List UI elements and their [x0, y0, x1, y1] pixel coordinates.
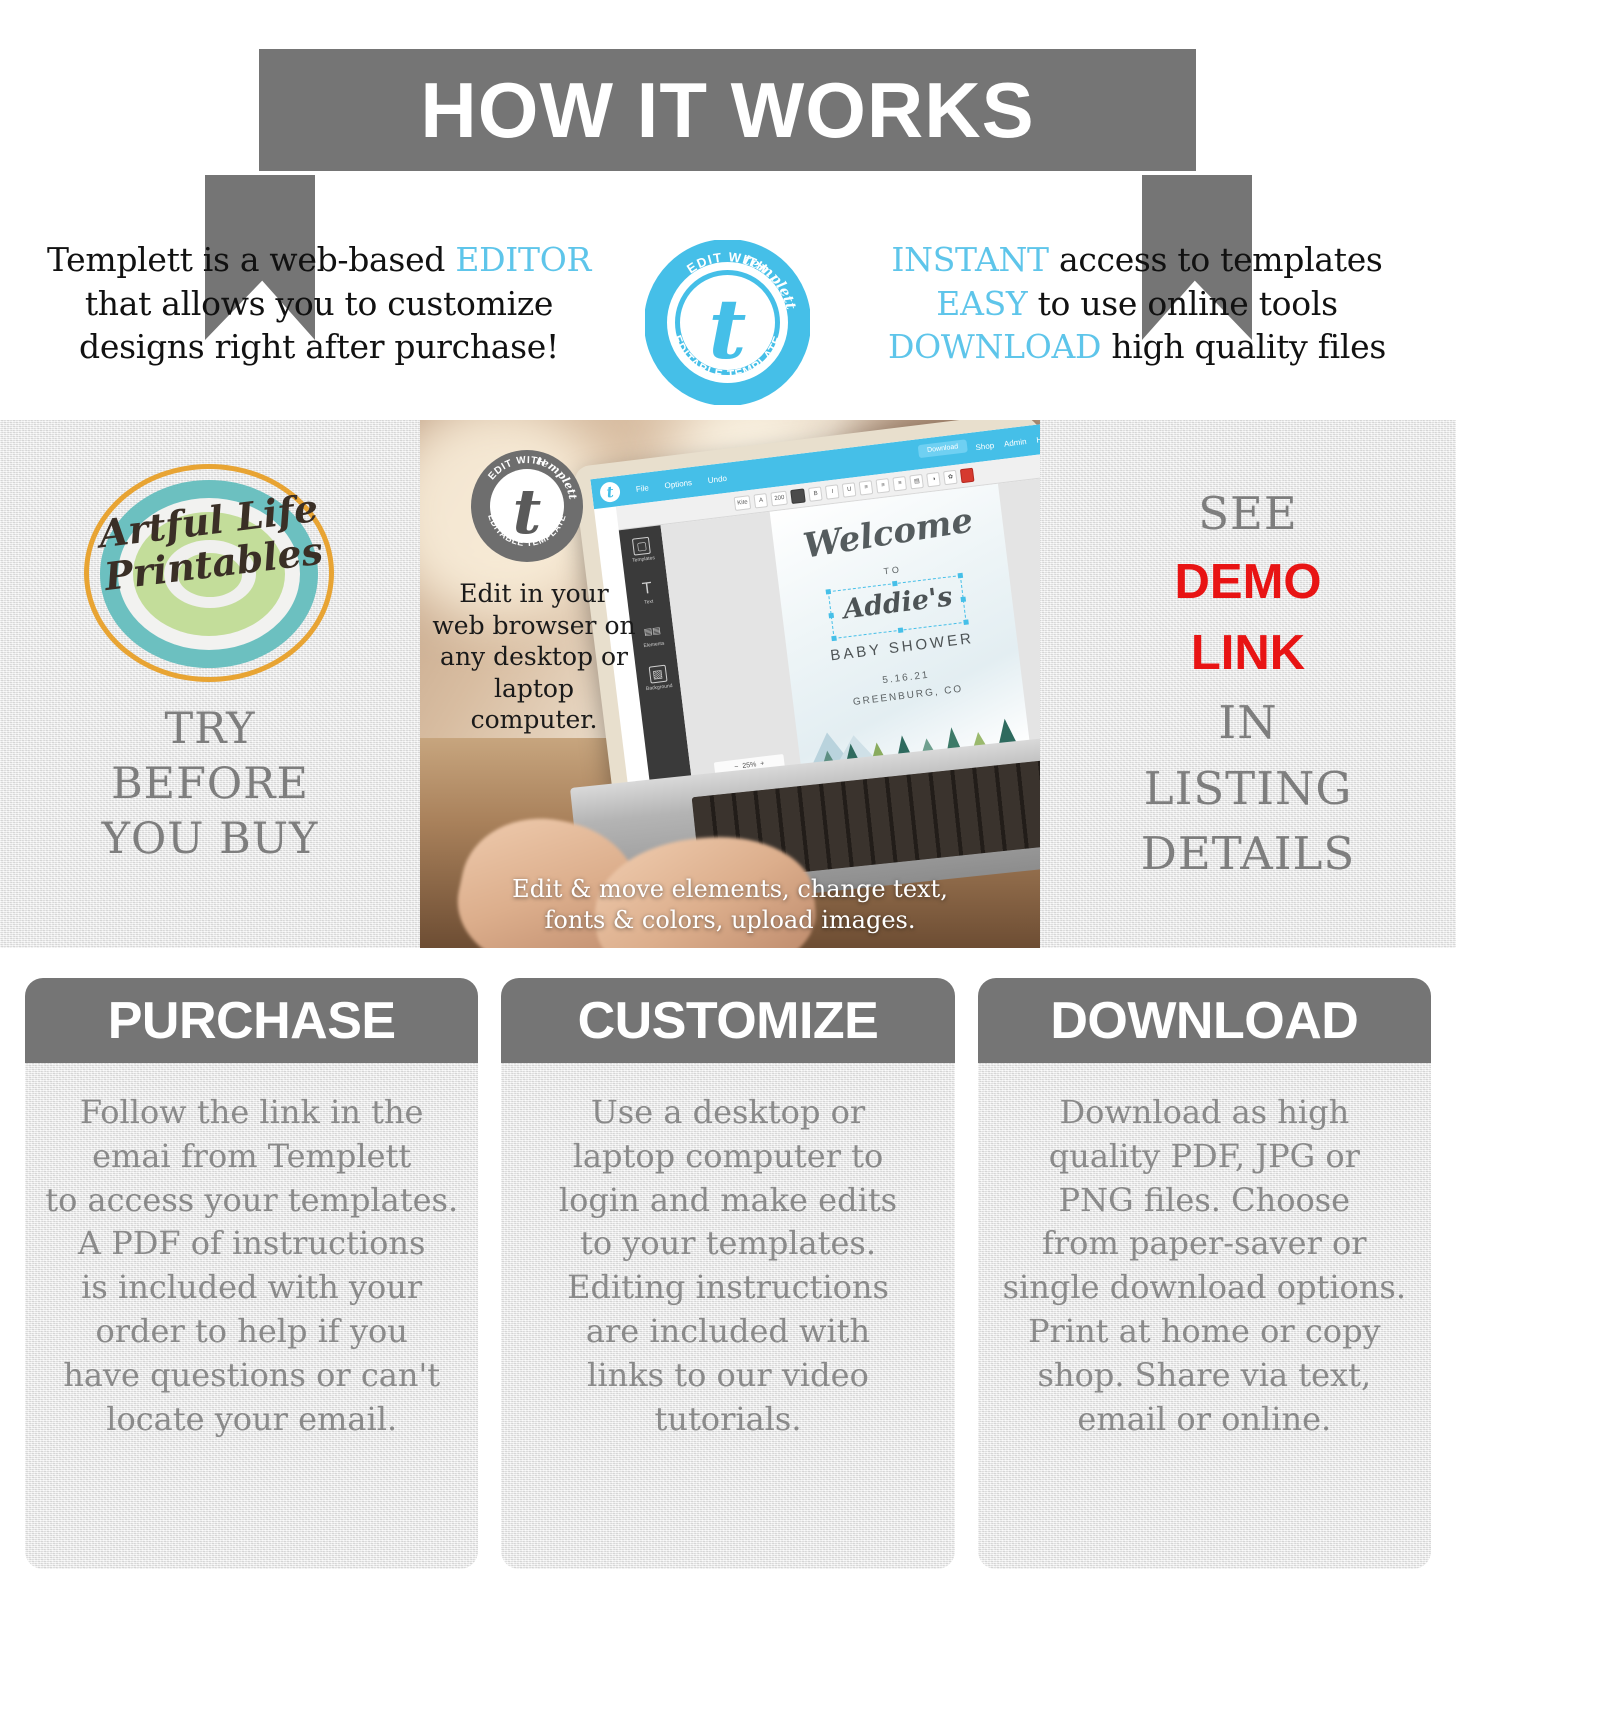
photo-caption-top-line-2: web browser on: [428, 610, 640, 642]
purchase-line-3: to access your templates.: [41, 1179, 462, 1223]
demo-line-in: IN: [1218, 690, 1277, 756]
demo-line-listing: LISTING: [1144, 756, 1353, 822]
page-title: HOW IT WORKS: [420, 71, 1034, 149]
brand-column: Artful Life Printables TRY BEFORE YOU BU…: [0, 420, 420, 948]
step-card-purchase-body: Follow the link in the emai from Templet…: [25, 1063, 478, 1569]
customize-line-8: tutorials.: [517, 1398, 938, 1442]
italic-chip[interactable]: I: [825, 484, 840, 499]
download-line-4: from paper-saver or: [994, 1222, 1415, 1266]
demo-line-demo: DEMO: [1175, 547, 1322, 619]
photo-caption-bottom: Edit & move elements, change text, fonts…: [420, 874, 1040, 936]
intro-left-block: Templett is a web-based EDITOR that allo…: [30, 215, 608, 369]
editor-menu-undo[interactable]: Undo: [707, 473, 727, 484]
step-card-purchase-title: PURCHASE: [108, 991, 396, 1051]
selection-handle-tr[interactable]: [958, 573, 964, 579]
bold-chip[interactable]: B: [808, 486, 823, 501]
customize-line-7: links to our video: [517, 1354, 938, 1398]
template-name-selection-box[interactable]: Addie's: [828, 575, 967, 639]
step-cards: PURCHASE Follow the link in the emai fro…: [0, 978, 1456, 1569]
laptop-photo: t File Options Undo Shop Admin Help Down…: [420, 420, 1040, 948]
intro-right-line-2: EASY to use online tools: [848, 282, 1426, 326]
editor-highlight: EDITOR: [455, 240, 591, 279]
selection-handle-tl[interactable]: [826, 589, 832, 595]
photo-caption-bottom-line-1: Edit & move elements, change text,: [420, 874, 1040, 905]
sidebar-label-background: Background: [646, 683, 673, 692]
intro-left-line-1: Templett is a web-based EDITOR: [30, 238, 608, 282]
sidebar-label-templates: Templates: [632, 555, 655, 564]
delete-chip[interactable]: [960, 467, 975, 482]
customize-line-1: Use a desktop or: [517, 1091, 938, 1135]
sidebar-item-templates[interactable]: ▢ Templates: [630, 536, 656, 564]
step-card-purchase-header: PURCHASE: [25, 978, 478, 1063]
templett-badge-gray: EDIT WITH templett EDITABLE TEMPLATE t: [468, 447, 586, 565]
step-card-purchase: PURCHASE Follow the link in the emai fro…: [25, 978, 478, 1569]
instant-highlight: INSTANT: [891, 240, 1048, 279]
templates-icon: ▢: [632, 537, 651, 556]
font-family-chip[interactable]: Kite: [734, 495, 752, 511]
try-before-you-buy-text: TRY BEFORE YOU BUY: [102, 702, 319, 867]
editor-logo-icon: t: [599, 481, 621, 503]
align-left-chip[interactable]: ≡: [859, 480, 874, 495]
editor-canvas[interactable]: Welcome TO Addie's: [660, 476, 1040, 786]
brand-logo: Artful Life Printables: [78, 458, 343, 688]
step-card-download: DOWNLOAD Download as high quality PDF, J…: [978, 978, 1431, 1569]
customize-line-4: to your templates.: [517, 1222, 938, 1266]
editor-menu-options[interactable]: Options: [664, 478, 692, 490]
zoom-in-icon[interactable]: +: [760, 760, 765, 767]
intro-right-block: INSTANT access to templates EASY to use …: [848, 215, 1426, 369]
download-line-6: Print at home or copy: [994, 1310, 1415, 1354]
tagline-line-2: BEFORE: [102, 757, 319, 812]
purchase-line-2: emai from Templett: [41, 1135, 462, 1179]
customize-line-2: laptop computer to: [517, 1135, 938, 1179]
download-line-2: quality PDF, JPG or: [994, 1135, 1415, 1179]
font-size-chip[interactable]: 200: [771, 490, 789, 506]
customize-line-5: Editing instructions: [517, 1266, 938, 1310]
download-highlight: DOWNLOAD: [888, 327, 1101, 366]
demo-line-see: SEE: [1198, 481, 1298, 547]
selection-handle-br[interactable]: [963, 619, 969, 625]
tagline-line-3: YOU BUY: [102, 812, 319, 867]
sidebar-label-elements: Elements: [643, 641, 664, 649]
selection-handle-bl[interactable]: [831, 636, 837, 642]
template-preview[interactable]: Welcome TO Addie's: [770, 484, 1030, 772]
editor-menu-admin[interactable]: Admin: [1003, 437, 1027, 449]
middle-band: Artful Life Printables TRY BEFORE YOU BU…: [0, 420, 1456, 948]
download-line-1: Download as high: [994, 1091, 1415, 1135]
download-line-8: email or online.: [994, 1398, 1415, 1442]
selection-handle-tc[interactable]: [892, 581, 898, 587]
align-center-chip[interactable]: ≡: [876, 478, 891, 493]
download-line-7: shop. Share via text,: [994, 1354, 1415, 1398]
photo-caption-bottom-line-2: fonts & colors, upload images.: [420, 905, 1040, 936]
step-card-customize-title: CUSTOMIZE: [578, 991, 879, 1051]
download-line-5: single download options.: [994, 1266, 1415, 1310]
svg-text:t: t: [709, 282, 747, 378]
effects-chip[interactable]: ✿: [943, 469, 958, 484]
text-icon: T: [638, 579, 657, 598]
intro-right-line-3: DOWNLOAD high quality files: [848, 325, 1426, 369]
step-card-download-header: DOWNLOAD: [978, 978, 1431, 1063]
align-right-chip[interactable]: ≡: [893, 475, 908, 490]
demo-column: SEE DEMO LINK IN LISTING DETAILS: [1040, 420, 1456, 948]
customize-line-6: are included with: [517, 1310, 938, 1354]
sidebar-item-elements[interactable]: ▤▤ Elements: [641, 622, 665, 649]
underline-chip[interactable]: U: [842, 482, 857, 497]
opacity-chip[interactable]: ◑: [926, 471, 941, 486]
background-icon: ▧: [648, 665, 667, 684]
sidebar-item-text[interactable]: T Text: [638, 579, 658, 606]
tagline-line-1: TRY: [102, 702, 319, 757]
intro-left-line-2: that allows you to customize: [30, 282, 608, 326]
demo-line-details: DETAILS: [1141, 821, 1355, 887]
elements-icon: ▤▤: [643, 622, 662, 641]
step-card-download-title: DOWNLOAD: [1050, 991, 1358, 1051]
purchase-line-8: locate your email.: [41, 1398, 462, 1442]
font-style-chip[interactable]: A: [754, 493, 769, 508]
intro-right-line-1: INSTANT access to templates: [848, 238, 1426, 282]
ribbon-banner: HOW IT WORKS: [255, 45, 1200, 175]
purchase-line-6: order to help if you: [41, 1310, 462, 1354]
step-card-customize: CUSTOMIZE Use a desktop or laptop comput…: [501, 978, 954, 1569]
demo-line-link: LINK: [1191, 618, 1305, 690]
svg-text:t: t: [513, 475, 542, 548]
step-card-download-body: Download as high quality PDF, JPG or PNG…: [978, 1063, 1431, 1569]
text-color-chip[interactable]: [790, 488, 806, 504]
step-card-customize-body: Use a desktop or laptop computer to logi…: [501, 1063, 954, 1569]
purchase-line-1: Follow the link in the: [41, 1091, 462, 1135]
purchase-line-7: have questions or can't: [41, 1354, 462, 1398]
editor-menu-shop[interactable]: Shop: [975, 440, 995, 451]
download-line-3: PNG files. Choose: [994, 1179, 1415, 1223]
photo-caption-top: Edit in your web browser on any desktop …: [428, 578, 640, 736]
layers-chip[interactable]: ▤: [910, 473, 925, 488]
purchase-line-5: is included with your: [41, 1266, 462, 1310]
intro-left-line-3: designs right after purchase!: [30, 325, 608, 369]
editor-menu-file[interactable]: File: [635, 483, 649, 494]
easy-highlight: EASY: [936, 284, 1027, 323]
templett-badge-blue: EDIT WITH templett EDITABLE TEMPLATE t: [645, 240, 810, 405]
photo-caption-top-line-1: Edit in your: [428, 578, 640, 610]
template-name-text: Addie's: [829, 580, 966, 627]
step-card-customize-header: CUSTOMIZE: [501, 978, 954, 1063]
editor-download-button[interactable]: Download: [918, 439, 968, 458]
photo-caption-top-line-3: any desktop or: [428, 641, 640, 673]
header-ribbon: HOW IT WORKS: [0, 0, 1456, 215]
laptop-lid: t File Options Undo Shop Admin Help Down…: [573, 420, 1040, 795]
sidebar-label-text: Text: [640, 598, 658, 606]
laptop-screen: t File Options Undo Shop Admin Help Down…: [590, 422, 1040, 793]
selection-handle-bc[interactable]: [898, 627, 904, 633]
sidebar-item-background[interactable]: ▧ Background: [643, 664, 673, 692]
photo-caption-top-line-4: laptop computer.: [428, 673, 640, 736]
customize-line-3: login and make edits: [517, 1179, 938, 1223]
purchase-line-4: A PDF of instructions: [41, 1222, 462, 1266]
